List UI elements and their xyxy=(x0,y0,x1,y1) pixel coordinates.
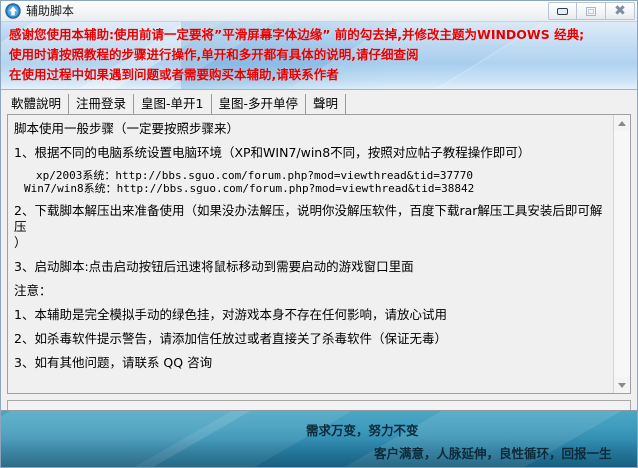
notice-item-3: 3、如有其他问题，请联系 QQ 咨询 xyxy=(14,355,607,371)
tab-huangtu-single-1[interactable]: 皇图-单开1 xyxy=(134,94,211,114)
spacer-8 xyxy=(14,347,607,355)
maximize-icon xyxy=(586,7,596,16)
window-controls: ✖ xyxy=(548,2,635,20)
banner-text-block: 感谢您使用本辅助:使用前请一定要将”平滑屏幕字体边缘” 前的勾去掉,并修改主题为… xyxy=(1,22,637,85)
spacer-7 xyxy=(14,323,607,331)
application-window: 辅助脚本 ✖ 感谢您使用本辅助:使用前请一定要将”平滑屏幕字体边缘” 前的勾去掉… xyxy=(0,0,638,468)
tab-bar: 軟體說明 注冊登录 皇图-单开1 皇图-多开单停 聲明 xyxy=(1,90,637,114)
spacer-1 xyxy=(14,137,607,145)
tab-statement[interactable]: 聲明 xyxy=(306,94,346,114)
content-panel: 脚本使用一般步骤（一定要按照步骤来） 1、根据不同的电脑系统设置电脑环境（XP和… xyxy=(7,114,631,394)
app-circle-arrow-icon xyxy=(5,3,21,19)
vertical-scrollbar[interactable] xyxy=(613,115,630,393)
spacer-5 xyxy=(14,275,607,283)
notice-item-2: 2、如杀毒软件提示警告，请添加信任放过或者直接关了杀毒软件（保证无毒） xyxy=(14,331,607,347)
instructions-heading: 脚本使用一般步骤（一定要按照步骤来） xyxy=(14,121,607,137)
footer-banner: 需求万变，努力不变 客户满意，人脉延伸，良性循环，回报一生 xyxy=(1,410,637,467)
notice-banner: 感谢您使用本辅助:使用前请一定要将”平滑屏幕字体边缘” 前的勾去掉,并修改主题为… xyxy=(1,22,637,90)
scrollbar-track[interactable] xyxy=(614,131,630,377)
spacer-2 xyxy=(14,161,607,169)
banner-line-2: 使用时请按照教程的步骤进行操作,单开和多开都有具体的说明,请仔细查阅 xyxy=(9,45,637,65)
title-bar: 辅助脚本 ✖ xyxy=(1,1,637,22)
scroll-down-arrow-icon[interactable] xyxy=(614,377,630,393)
scroll-up-arrow-icon[interactable] xyxy=(614,115,630,131)
footer-slogan-2: 客户满意，人脉延伸，良性循环，回报一生 xyxy=(374,443,612,462)
link-xp-2003[interactable]: xp/2003系统：http://bbs.sguo.com/forum.php?… xyxy=(14,169,607,182)
close-button[interactable]: ✖ xyxy=(606,2,635,20)
maximize-button[interactable] xyxy=(577,2,606,20)
footer-slogan-1: 需求万变，努力不变 xyxy=(306,420,419,439)
tab-software-description[interactable]: 軟體說明 xyxy=(4,94,69,114)
instructions-step-1: 1、根据不同的电脑系统设置电脑环境（XP和WIN7/win8不同，按照对应帖子教… xyxy=(14,145,607,161)
footer-streak-1 xyxy=(1,410,285,467)
notice-title: 注意： xyxy=(14,283,607,299)
close-icon: ✖ xyxy=(614,4,626,18)
tab-huangtu-multi-single-stop[interactable]: 皇图-多开单停 xyxy=(212,94,307,114)
minimize-icon xyxy=(557,8,568,15)
spacer-4 xyxy=(14,251,607,259)
instructions-text: 脚本使用一般步骤（一定要按照步骤来） 1、根据不同的电脑系统设置电脑环境（XP和… xyxy=(8,115,613,393)
spacer-3 xyxy=(14,195,607,203)
tab-register-login[interactable]: 注冊登录 xyxy=(69,94,134,114)
banner-line-3: 在使用过程中如果遇到问题或者需要购买本辅助,请联系作者 xyxy=(9,65,637,85)
instructions-step-2-cont: ） xyxy=(14,235,607,251)
instructions-step-2: 2、下载脚本解压出来准备使用（如果没办法解压，说明你没解压软件，百度下载rar解… xyxy=(14,203,607,235)
window-title: 辅助脚本 xyxy=(26,3,74,19)
banner-line-1: 感谢您使用本辅助:使用前请一定要将”平滑屏幕字体边缘” 前的勾去掉,并修改主题为… xyxy=(9,25,637,45)
notice-item-1: 1、本辅助是完全模拟手动的绿色挂，对游戏本身不存在任何影响，请放心试用 xyxy=(14,307,607,323)
instructions-step-3: 3、启动脚本:点击启动按钮后迅速将鼠标移动到需要启动的游戏窗口里面 xyxy=(14,259,607,275)
spacer-6 xyxy=(14,299,607,307)
link-win7-win8[interactable]: Win7/win8系统：http://bbs.sguo.com/forum.ph… xyxy=(14,182,607,195)
minimize-button[interactable] xyxy=(548,2,577,20)
